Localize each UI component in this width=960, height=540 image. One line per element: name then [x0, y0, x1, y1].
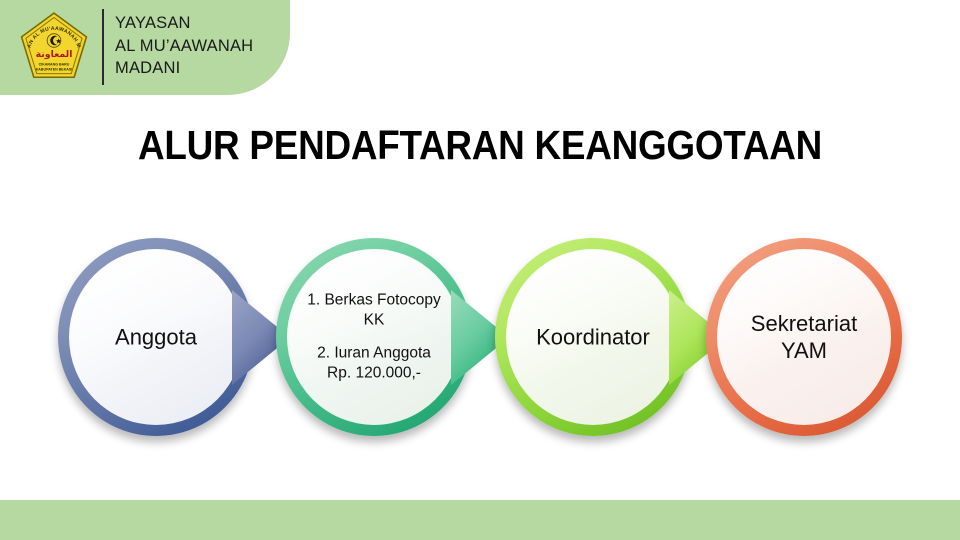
- flow-node-label: 1. Berkas Fotocopy KK 2. Iuran Anggota R…: [292, 291, 456, 384]
- flow-node-sekretariat[interactable]: Sekretariat YAM: [706, 238, 902, 436]
- flow-node-persyaratan[interactable]: 1. Berkas Fotocopy KK 2. Iuran Anggota R…: [276, 238, 472, 436]
- header-divider: [102, 9, 104, 85]
- process-flow-diagram: Anggota 1. Berkas Fotocopy KK 2. Iuran A…: [0, 238, 960, 438]
- flow-node-koordinator[interactable]: Koordinator: [495, 238, 691, 436]
- requirement-line-4: Rp. 120.000,-: [327, 365, 421, 382]
- page-title: ALUR PENDAFTARAN KEANGGOTAAN: [48, 122, 912, 169]
- organization-logo: YAYASAN AL MU'AAWANAH MADANI المعاونة CI…: [18, 11, 90, 83]
- svg-text:المعاونة: المعاونة: [36, 49, 73, 60]
- header-band: YAYASAN AL MU'AAWANAH MADANI المعاونة CI…: [0, 0, 290, 95]
- flow-node-label: Anggota: [74, 324, 238, 351]
- requirement-line-2: KK: [364, 312, 385, 329]
- flow-node-label: Koordinator: [511, 324, 675, 351]
- requirement-line-3: 2. Iuran Anggota: [317, 345, 431, 362]
- footer-band: [0, 500, 960, 540]
- label-spacer: [292, 331, 456, 344]
- sekretariat-line-1: Sekretariat: [751, 311, 857, 336]
- organization-name: YAYASAN AL MU’AAWANAH MADANI: [115, 12, 295, 80]
- flow-node-label: Sekretariat YAM: [722, 310, 886, 364]
- sekretariat-line-2: YAM: [781, 338, 827, 363]
- requirement-line-1: 1. Berkas Fotocopy: [307, 292, 441, 309]
- flow-node-anggota[interactable]: Anggota: [58, 238, 254, 436]
- svg-text:CIKARANG BARU: CIKARANG BARU: [39, 63, 70, 67]
- svg-text:KABUPATEN BEKASI: KABUPATEN BEKASI: [36, 67, 73, 71]
